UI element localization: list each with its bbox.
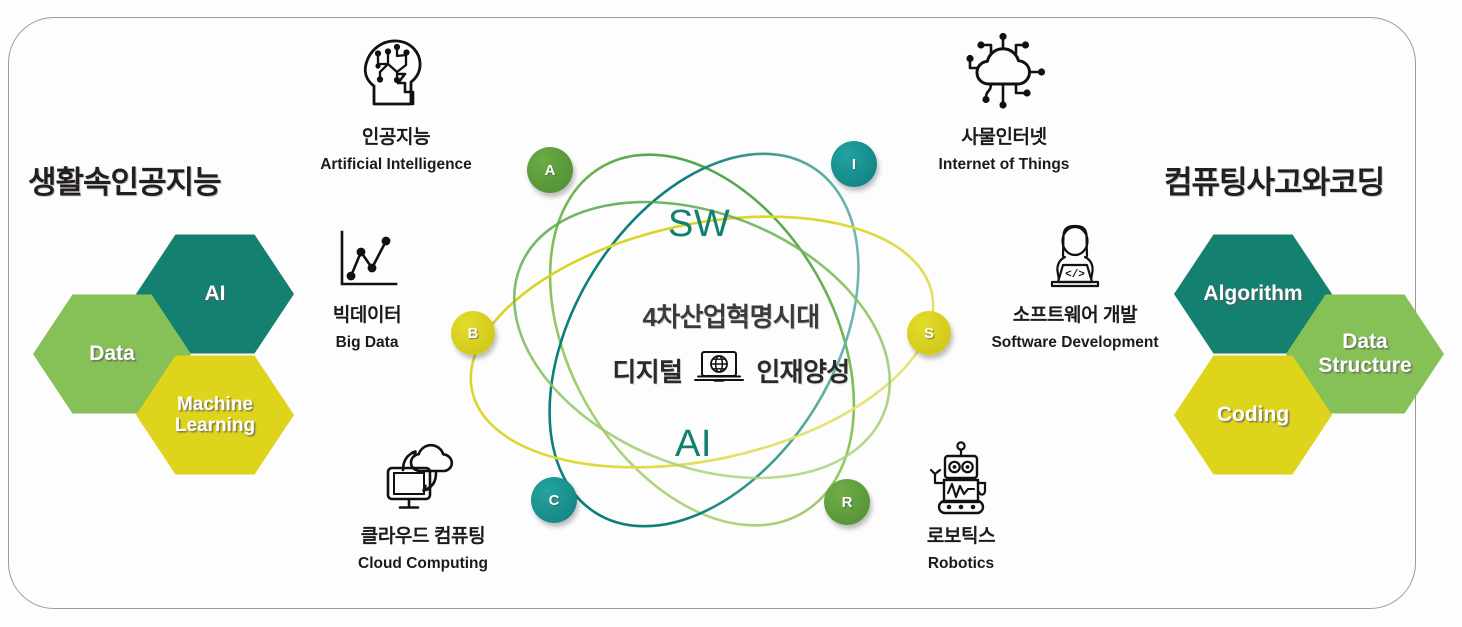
cloud-network-icon	[889, 30, 1119, 116]
center-headline: 4차산업혁명시대	[0, 297, 1462, 334]
hex-ml-label-line2: Learning	[175, 415, 255, 436]
section-title-left: 생활속인공지능	[28, 157, 221, 202]
infographic-canvas: 생활속인공지능 AI Data Machine Learning 컴퓨팅사고와코…	[0, 0, 1462, 627]
center-subline-right: 인재양성	[756, 352, 849, 389]
laptop-globe-icon	[693, 349, 745, 392]
orbit-node-c[interactable]: C	[531, 477, 577, 523]
orbit-node-r-letter: R	[842, 494, 853, 511]
orbit-node-c-letter: C	[549, 492, 560, 509]
brain-head-icon	[281, 30, 511, 116]
section-title-right: 컴퓨팅사고와코딩	[1164, 157, 1384, 202]
center-word-ai: AI	[675, 423, 712, 466]
orbit-node-a[interactable]: A	[527, 147, 573, 193]
developer-laptop-icon: </>	[955, 216, 1195, 294]
center-word-sw: SW	[668, 203, 730, 246]
orbit-node-r[interactable]: R	[824, 479, 870, 525]
hex-coding-label: Coding	[1217, 403, 1289, 427]
center-subline: 디지털 인재양성	[0, 349, 1462, 392]
orbit-node-a-letter: A	[545, 162, 556, 179]
orbit-node-i-letter: I	[852, 156, 856, 173]
hex-ml-label-line1: Machine	[175, 394, 255, 415]
orbit-node-i[interactable]: I	[831, 141, 877, 187]
orbit-ellipses	[432, 120, 972, 560]
svg-text:</>: </>	[1065, 269, 1085, 281]
center-subline-left: 디지털	[612, 352, 682, 389]
